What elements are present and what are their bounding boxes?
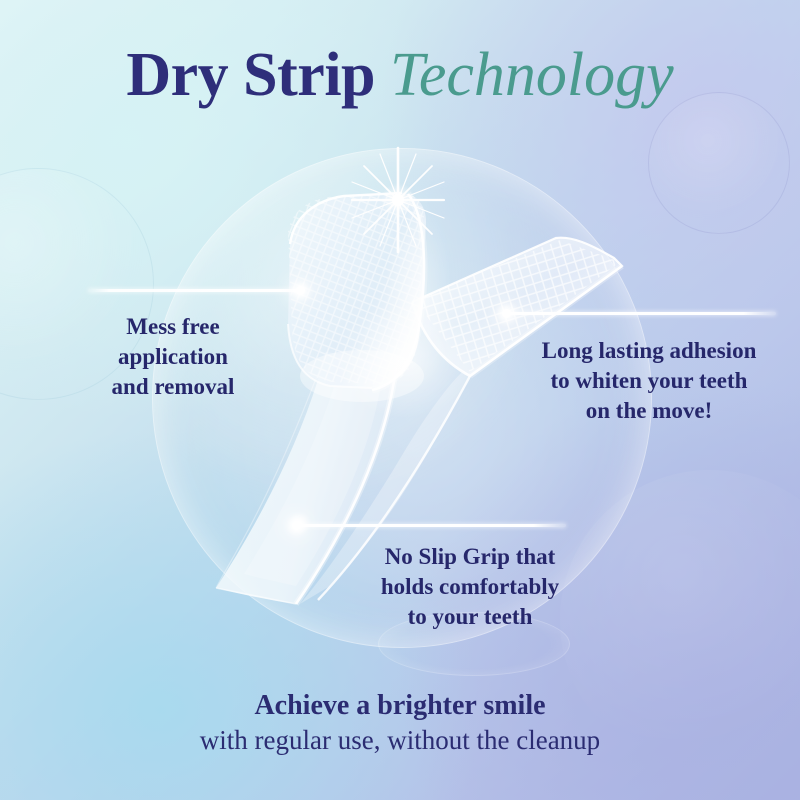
- callout-mess-free-line-3: and removal: [58, 372, 288, 402]
- leader-line-no-slip-grip: [296, 524, 566, 527]
- callout-mess-free-line-1: Mess free: [58, 312, 288, 342]
- page-title: Dry Strip Technology: [0, 44, 800, 106]
- callout-long-lasting-line-2: to whiten your teeth: [508, 366, 790, 396]
- callout-no-slip-grip: No Slip Grip that holds comfortably to y…: [350, 542, 590, 632]
- callout-no-slip-grip-line-2: holds comfortably: [350, 572, 590, 602]
- leader-dot-long-lasting: [502, 309, 511, 318]
- strip-fold-glow: [334, 302, 474, 418]
- leader-dot-no-slip-grip: [292, 521, 301, 530]
- callout-long-lasting-line-1: Long lasting adhesion: [508, 336, 790, 366]
- leader-dot-mess-free: [296, 286, 305, 295]
- starburst-sparkle: [352, 148, 444, 252]
- decorative-bubble-top-right: [648, 92, 790, 234]
- title-bold-part: Dry Strip: [126, 41, 390, 109]
- callout-no-slip-grip-line-1: No Slip Grip that: [350, 542, 590, 572]
- tagline-line-1: Achieve a brighter smile: [0, 688, 800, 724]
- leader-line-long-lasting: [506, 312, 776, 315]
- callout-long-lasting: Long lasting adhesion to whiten your tee…: [508, 336, 790, 426]
- callout-long-lasting-line-3: on the move!: [508, 396, 790, 426]
- callout-mess-free: Mess free application and removal: [58, 312, 288, 402]
- leader-line-mess-free: [88, 289, 300, 292]
- title-italic-part: Technology: [390, 41, 674, 109]
- tagline: Achieve a brighter smile with regular us…: [0, 688, 800, 758]
- poster-canvas: Dry Strip Technology Mess free applicati…: [0, 0, 800, 800]
- callout-mess-free-line-2: application: [58, 342, 288, 372]
- callout-no-slip-grip-line-3: to your teeth: [350, 602, 590, 632]
- tagline-line-2: with regular use, without the cleanup: [0, 723, 800, 758]
